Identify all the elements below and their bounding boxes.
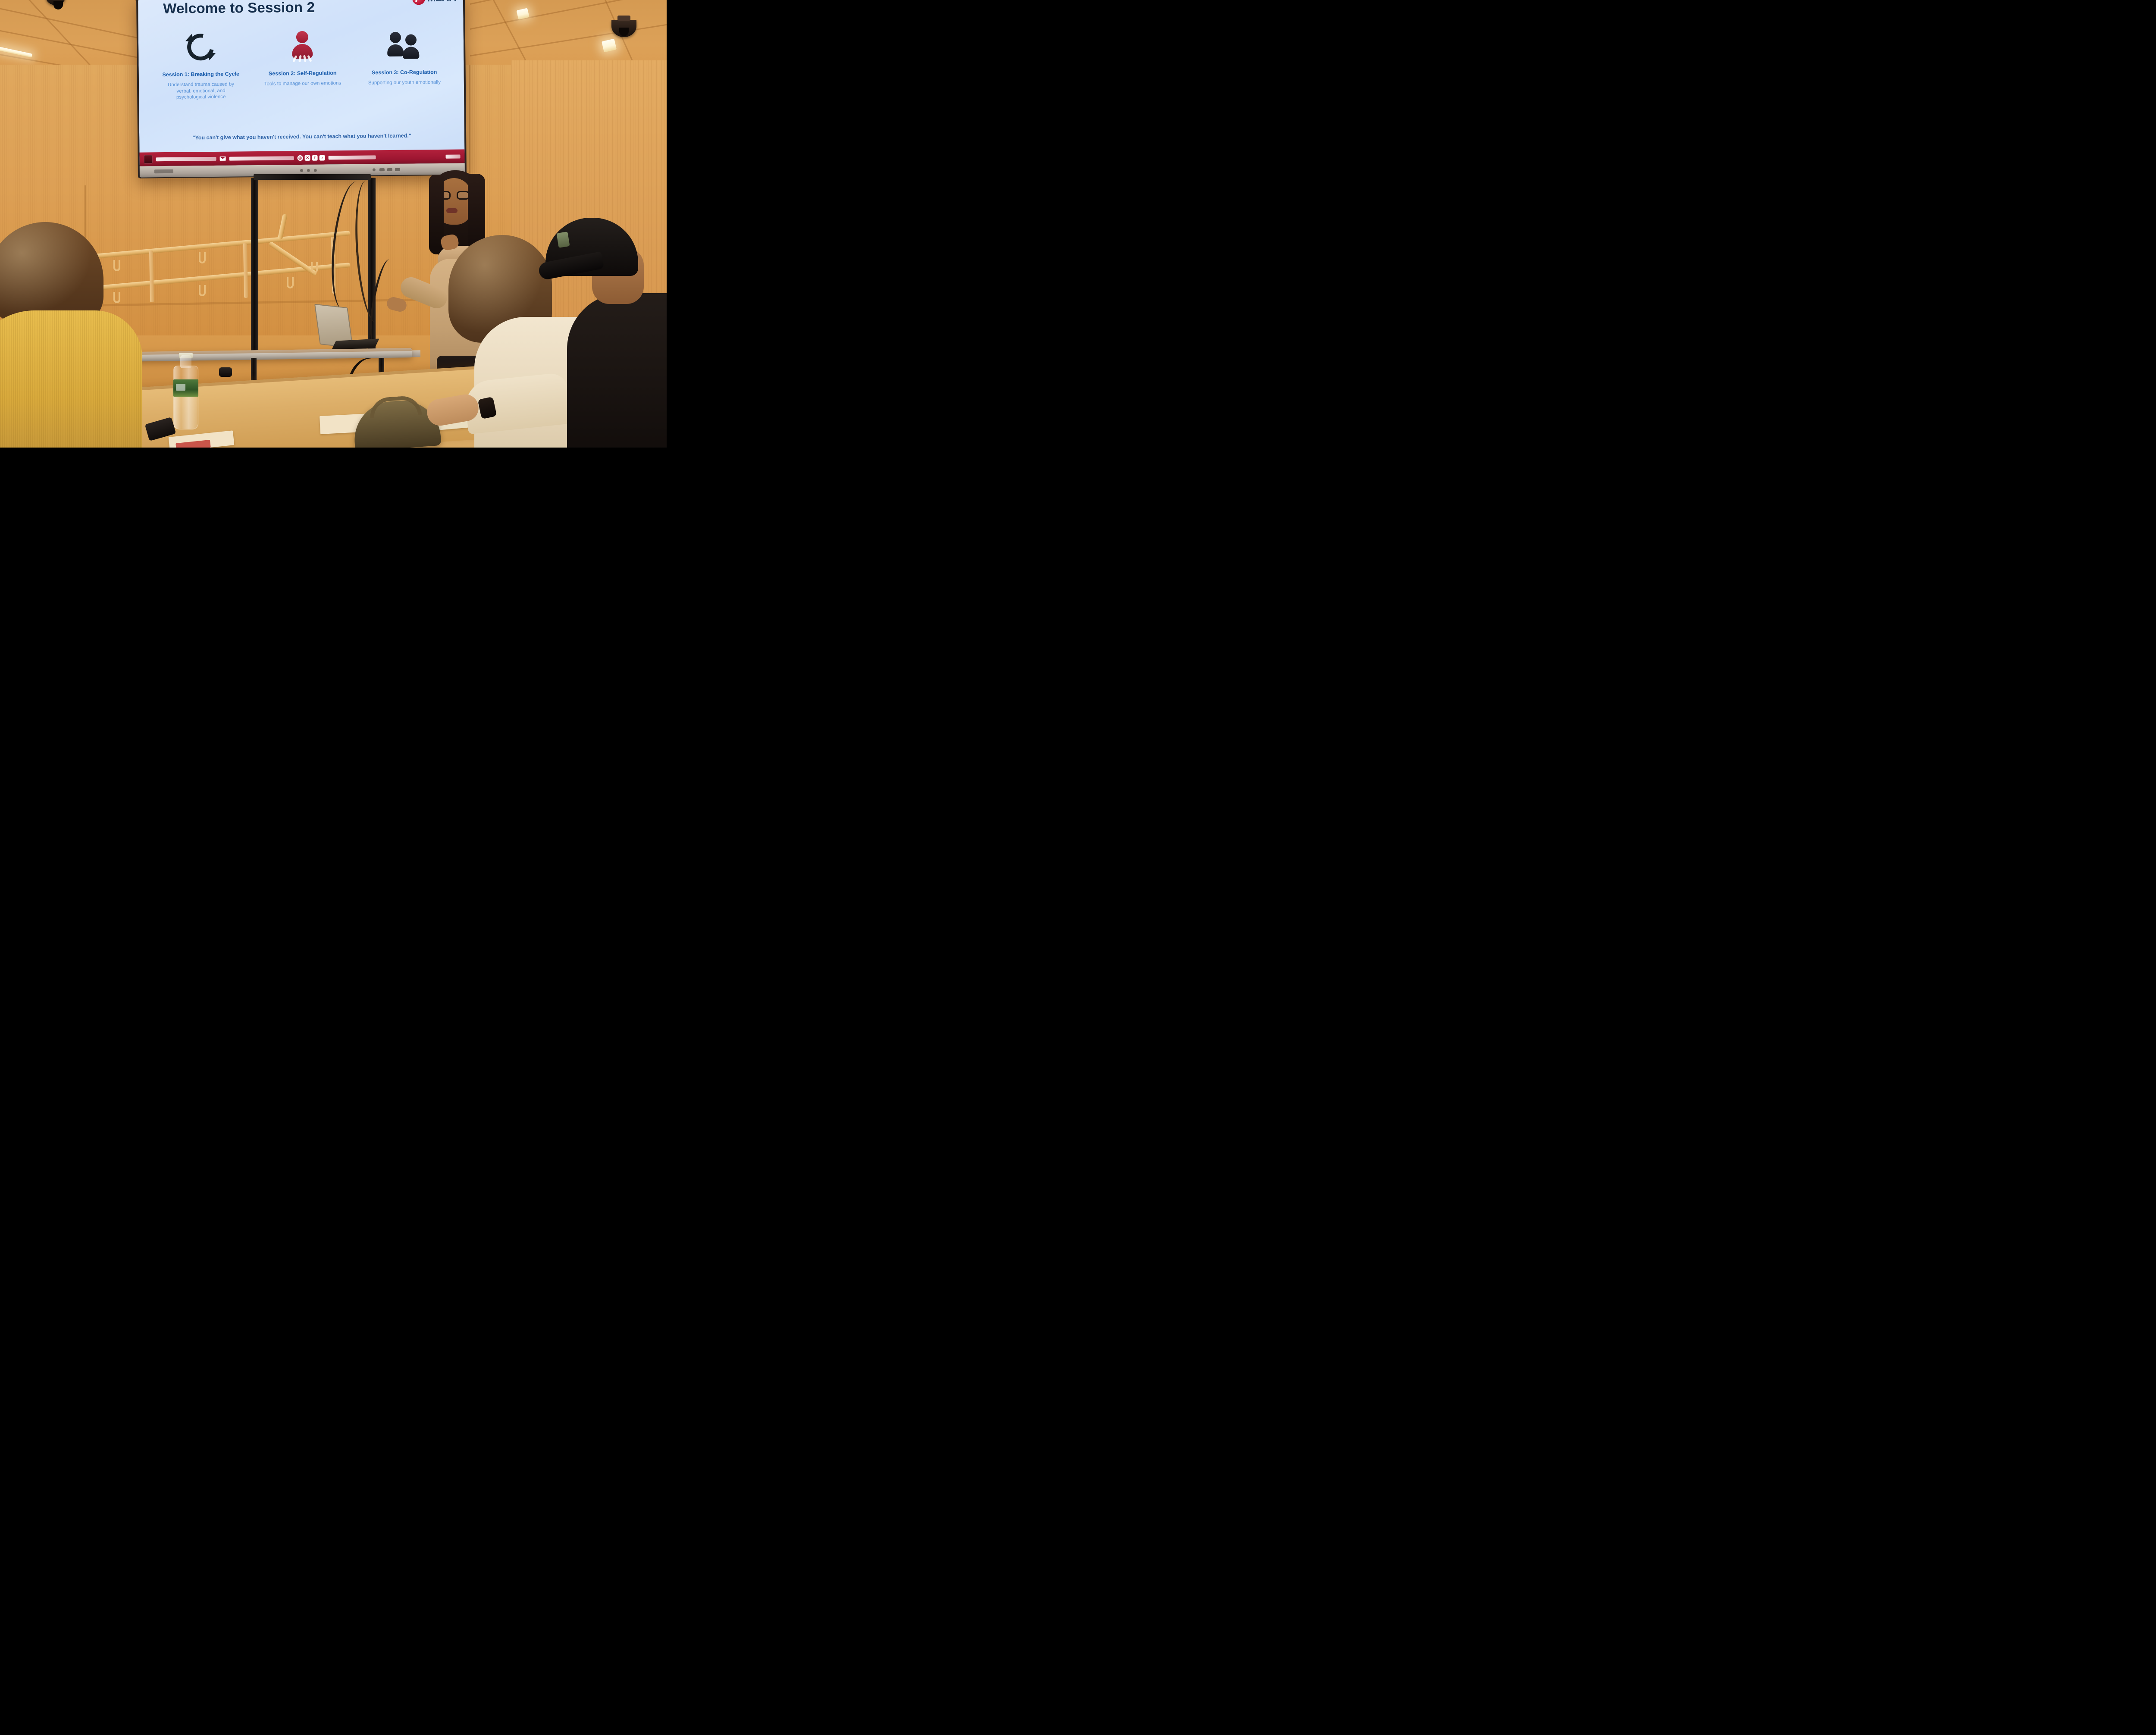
email-chip [229, 156, 294, 160]
display-button-1[interactable] [300, 169, 303, 172]
baseball-cap-logo-icon [557, 232, 570, 248]
display-button-4[interactable] [379, 168, 385, 171]
participant-left-hair [0, 222, 103, 326]
display-power-indicator [373, 168, 376, 171]
presentation-display[interactable]: MZAA Welcome to Session 2 Session 1: Bre… [136, 0, 467, 179]
tiktok-icon: ♪ [320, 155, 325, 160]
website-chip [156, 157, 216, 161]
av-cart-caster-left [219, 367, 232, 377]
presenter-mouth [446, 208, 458, 213]
session-3-title: Session 3: Co-Regulation [372, 69, 437, 75]
slide-quote: "You can't give what you haven't receive… [139, 132, 464, 141]
display-bezel: MZAA Welcome to Session 2 Session 1: Bre… [138, 0, 465, 166]
session-column-2: Session 2: Self-Regulation Tools to mana… [251, 24, 354, 124]
session-2-description: Tools to manage our own emotions [264, 80, 341, 87]
participant-right [541, 218, 667, 448]
partner-logo-chip [446, 154, 461, 158]
display-button-3[interactable] [314, 169, 317, 172]
display-button-2[interactable] [307, 169, 310, 172]
session-1-title: Session 1: Breaking the Cycle [162, 71, 239, 78]
slide-logo: MZAA [412, 0, 457, 5]
envelope-icon [220, 157, 226, 161]
instagram-icon: ◎ [298, 155, 303, 160]
organization-seal-icon [144, 155, 153, 163]
participant-left-sweater [0, 310, 142, 448]
organization-logo-icon [412, 0, 425, 5]
ceiling-speaker-icon [46, 0, 66, 5]
participant-left [0, 222, 121, 448]
session-1-description: Understand trauma caused by verbal, emot… [162, 81, 240, 101]
two-people-icon [387, 23, 421, 67]
presentation-room-photo: MZAA Welcome to Session 2 Session 1: Bre… [0, 0, 667, 448]
bottle-label [173, 379, 198, 397]
ceiling-dome-camera-icon [611, 20, 636, 37]
facebook-icon: f [312, 155, 318, 160]
display-button-5[interactable] [387, 168, 392, 171]
session-columns: Session 1: Breaking the Cycle Understand… [150, 23, 456, 125]
display-brand-logo [154, 169, 173, 173]
session-column-1: Session 1: Breaking the Cycle Understand… [150, 25, 252, 125]
bottle-body [173, 366, 198, 429]
participant-right-shirt [567, 293, 667, 448]
footer-partner [446, 154, 461, 158]
display-button-6[interactable] [395, 168, 400, 171]
session-3-description: Supporting our youth emotionally [368, 79, 441, 86]
cycle-arrows-icon [187, 25, 214, 69]
slide-title: Welcome to Session 2 [163, 0, 315, 17]
organization-logo-text: MZAA [427, 0, 457, 4]
water-bottle[interactable] [172, 353, 200, 429]
social-icons: ◎ ✕ f ♪ [298, 155, 325, 161]
display-mount-pole-left [251, 178, 258, 357]
session-column-3: Session 3: Co-Regulation Supporting our … [353, 23, 456, 123]
slide-canvas: MZAA Welcome to Session 2 Session 1: Bre… [138, 0, 465, 166]
presenter-laptop[interactable] [317, 306, 373, 354]
handle-chip [329, 155, 376, 160]
person-self-icon [290, 24, 315, 69]
session-2-title: Session 2: Self-Regulation [269, 70, 337, 77]
twitter-x-icon: ✕ [305, 155, 310, 160]
display-mount-crossbar [254, 174, 371, 180]
